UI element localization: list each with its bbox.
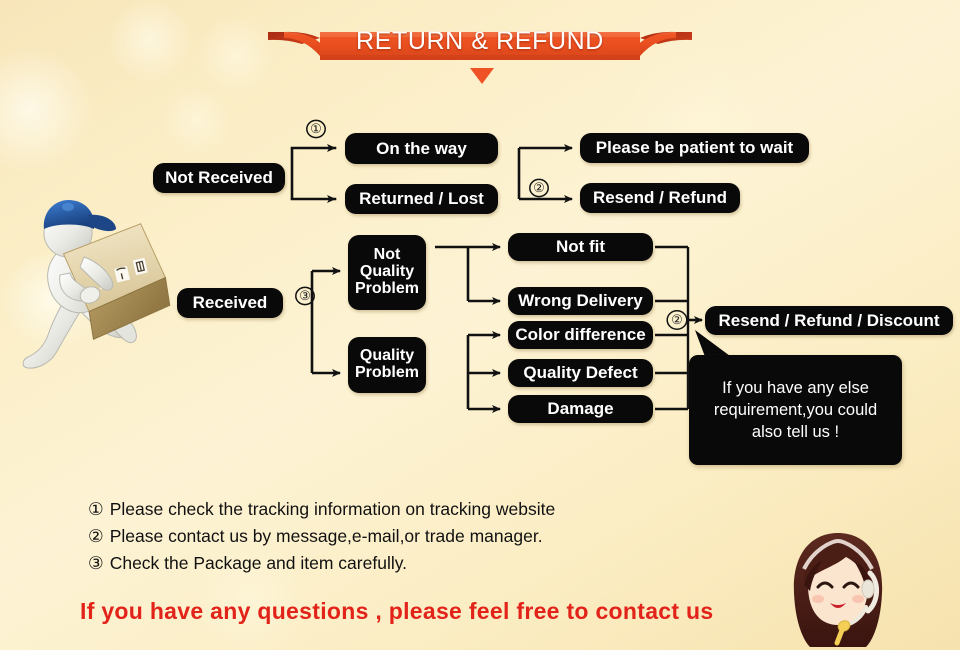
bubble-line-1: If you have any else <box>714 377 877 399</box>
customer-service-agent-icon <box>782 527 894 650</box>
node-resend-refund[interactable]: Resend / Refund <box>580 183 740 213</box>
marker-one: ① <box>305 118 327 140</box>
node-damage[interactable]: Damage <box>508 395 653 423</box>
node-received-label: Received <box>193 294 268 312</box>
marker-one-label: ① <box>310 121 322 137</box>
down-triangle-icon <box>470 68 494 84</box>
node-quality-line2: Problem <box>355 365 419 382</box>
marker-three-label: ③ <box>299 288 311 304</box>
node-not-fit-label: Not fit <box>556 238 605 256</box>
node-not-quality-line2: Quality <box>360 264 414 281</box>
node-quality-line1: Quality <box>360 348 414 365</box>
marker-two-label: ② <box>533 180 545 196</box>
node-not-quality-line3: Problem <box>355 281 419 298</box>
node-on-the-way[interactable]: On the way <box>345 133 498 164</box>
bubble-line-3: also tell us ! <box>714 421 877 443</box>
node-color-difference[interactable]: Color difference <box>508 321 653 349</box>
legend-item-text: Please check the tracking information on… <box>110 499 556 519</box>
node-on-the-way-label: On the way <box>376 140 467 158</box>
node-quality-defect[interactable]: Quality Defect <box>508 359 653 387</box>
node-color-difference-label: Color difference <box>515 326 645 344</box>
banner-ribbon: RETURN & REFUND <box>268 18 692 64</box>
node-wrong-delivery-label: Wrong Delivery <box>518 292 642 310</box>
node-returned-lost[interactable]: Returned / Lost <box>345 184 498 214</box>
node-quality-defect-label: Quality Defect <box>523 364 637 382</box>
node-returned-lost-label: Returned / Lost <box>359 190 484 208</box>
return-refund-infographic: RETURN & REFUND <box>0 0 960 650</box>
courier-carrying-box-icon <box>12 183 180 375</box>
bubble-line-2: requirement,you could <box>714 399 877 421</box>
node-received[interactable]: Received <box>177 288 283 318</box>
legend-item-number: ② <box>88 526 104 546</box>
marker-two-secondary: ② <box>665 308 689 332</box>
speech-bubble: If you have any else requirement,you cou… <box>689 355 902 465</box>
legend-item: ②Please contact us by message,e-mail,or … <box>88 523 708 550</box>
marker-three: ③ <box>294 285 316 307</box>
legend-item-text: Check the Package and item carefully. <box>110 553 407 573</box>
node-not-quality-line1: Not <box>374 247 401 264</box>
legend-item-number: ① <box>88 499 104 519</box>
node-resend-refund-discount-label: Resend / Refund / Discount <box>718 312 939 330</box>
node-quality-problem[interactable]: Quality Problem <box>348 337 426 393</box>
node-damage-label: Damage <box>547 400 613 418</box>
legend-item-text: Please contact us by message,e-mail,or t… <box>110 526 543 546</box>
legend-item-number: ③ <box>88 553 104 573</box>
marker-two-secondary-label: ② <box>671 312 683 328</box>
marker-two: ② <box>528 177 550 199</box>
node-please-be-patient-label: Please be patient to wait <box>596 139 793 157</box>
banner-title: RETURN & REFUND <box>268 18 692 64</box>
legend-item: ③Check the Package and item carefully. <box>88 550 708 577</box>
legend-list: ①Please check the tracking information o… <box>88 496 708 577</box>
node-not-received-label: Not Received <box>165 169 273 187</box>
node-not-quality-problem[interactable]: Not Quality Problem <box>348 235 426 310</box>
node-wrong-delivery[interactable]: Wrong Delivery <box>508 287 653 315</box>
node-please-be-patient[interactable]: Please be patient to wait <box>580 133 809 163</box>
node-not-fit[interactable]: Not fit <box>508 233 653 261</box>
node-resend-refund-label: Resend / Refund <box>593 189 727 207</box>
legend-item: ①Please check the tracking information o… <box>88 496 708 523</box>
contact-tagline: If you have any questions , please feel … <box>80 598 800 625</box>
